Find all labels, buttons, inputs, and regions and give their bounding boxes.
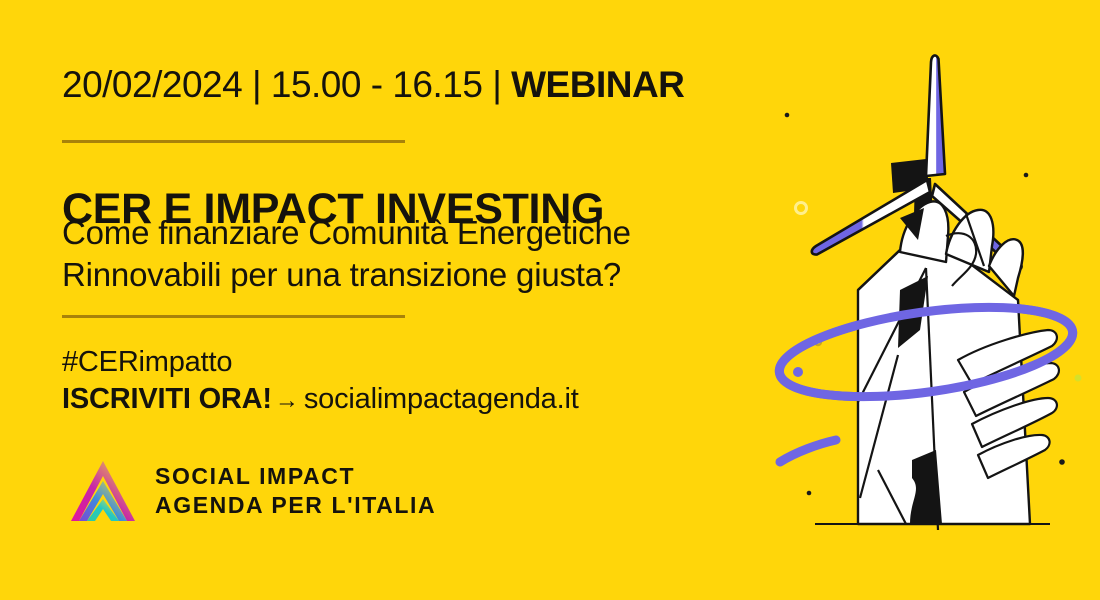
registration-cta[interactable]: ISCRIVITI ORA!→socialimpactagenda.it: [62, 385, 579, 414]
nested-triangle-icon: [67, 455, 139, 527]
arrow-right-icon: →: [272, 387, 304, 414]
meta-separator-2: |: [492, 64, 501, 105]
event-date: 20/02/2024: [62, 64, 242, 105]
subtitle-line-1: Come finanziare Comunità Energetiche: [62, 212, 762, 254]
hashtag: #CERimpatto: [62, 348, 232, 377]
meta-separator-1: |: [252, 64, 261, 105]
cta-label: ISCRIVITI ORA!: [62, 383, 272, 415]
event-meta-line: 20/02/2024 | 15.00 - 16.15 | WEBINAR: [62, 66, 684, 103]
divider-bottom: [62, 315, 405, 318]
logo-line-2: AGENDA PER L'ITALIA: [155, 491, 436, 520]
subtitle-line-2: Rinnovabili per una transizione giusta?: [62, 254, 762, 296]
event-type-label: WEBINAR: [511, 64, 684, 105]
logo-wordmark: SOCIAL IMPACT AGENDA PER L'ITALIA: [155, 462, 436, 520]
logo-line-1: SOCIAL IMPACT: [155, 462, 436, 491]
organization-logo[interactable]: SOCIAL IMPACT AGENDA PER L'ITALIA: [67, 455, 436, 527]
text-column: 20/02/2024 | 15.00 - 16.15 | WEBINAR CER…: [62, 0, 762, 600]
event-time: 15.00 - 16.15: [271, 64, 483, 105]
webinar-promo-banner: 20/02/2024 | 15.00 - 16.15 | WEBINAR CER…: [0, 0, 1100, 600]
divider-top: [62, 140, 405, 143]
cta-url[interactable]: socialimpactagenda.it: [304, 383, 579, 415]
orbit-ring-tail: [780, 440, 836, 462]
subtitle: Come finanziare Comunità Energetiche Rin…: [62, 212, 762, 296]
hand-holding-wind-turbine-illustration: [760, 0, 1100, 600]
